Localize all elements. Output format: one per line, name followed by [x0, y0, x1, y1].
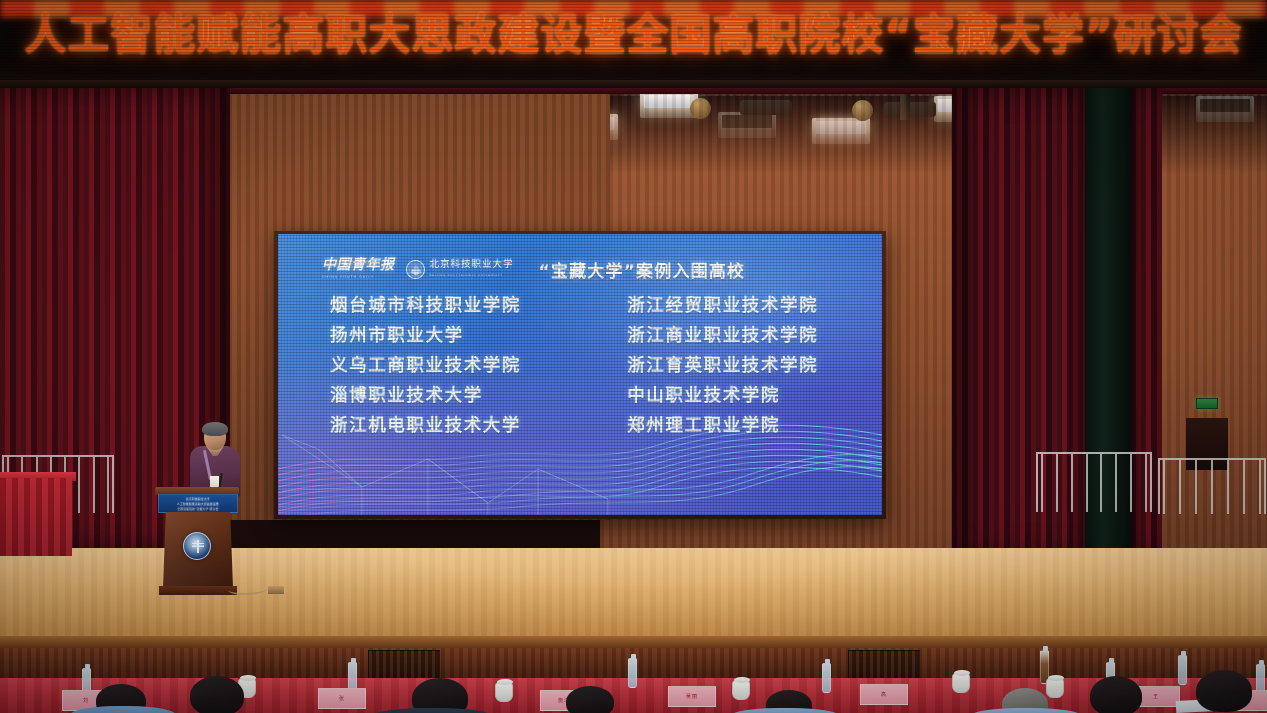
- lectern-banner-line2: 人工智能赋能高职大思政建设暨: [177, 502, 219, 506]
- stage-railing-far-right: [1158, 458, 1266, 514]
- tea-cup: [495, 682, 513, 702]
- tea-cup: [952, 673, 970, 693]
- lectern: 北京科技职业大学 人工智能赋能高职大思政建设暨 全国高职院校“宝藏大学”研讨会: [157, 487, 237, 597]
- skirted-table: [0, 478, 72, 556]
- tea-cup: [732, 680, 750, 700]
- led-screen: 中国青年报 CHINA YOUTH DAILY 北京科技职业大学 BEIJING…: [278, 234, 882, 515]
- audience-member-head: [1196, 670, 1252, 712]
- conference-hall-photo: 中国青年报 CHINA YOUTH DAILY 北京科技职业大学 BEIJING…: [0, 0, 1267, 713]
- university-lists: 烟台城市科技职业学院 扬州市职业大学 义乌工商职业技术学院 淄博职业技术大学 浙…: [330, 296, 858, 437]
- list-item: 郑州理工职业学院: [627, 416, 858, 438]
- lectern-banner: 北京科技职业大学 人工智能赋能高职大思政建设暨 全国高职院校“宝藏大学”研讨会: [158, 494, 238, 513]
- list-item: 中山职业技术学院: [627, 386, 858, 408]
- exit-sign-icon: [1196, 398, 1218, 409]
- name-placard: 张: [318, 688, 366, 709]
- led-banner: 人工智能赋能高职大思政建设暨全国高职院校“宝藏大学”研讨会: [0, 0, 1267, 86]
- list-item: 淄博职业技术大学: [330, 386, 593, 408]
- slide-header: 中国青年报 CHINA YOUTH DAILY 北京科技职业大学 BEIJING…: [322, 252, 862, 286]
- floor-cable-cover: [268, 586, 284, 594]
- lectern-banner-line3: 全国高职院校“宝藏大学”研讨会: [177, 507, 218, 511]
- audience-member-head: [1090, 676, 1142, 713]
- name-placard: 吴丽: [668, 686, 716, 707]
- bvp-logo-cn: 北京科技职业大学: [430, 261, 514, 271]
- cyd-logo-cn: 中国青年报: [322, 259, 395, 273]
- bvp-logo-en: BEIJING POLYTECHNIC UNIVERSITY: [430, 273, 514, 277]
- speaker-hair: [202, 422, 228, 436]
- university-column-right: 浙江经贸职业技术学院 浙江商业职业技术学院 浙江育英职业技术学院 中山职业技术学…: [627, 296, 858, 437]
- list-item: 义乌工商职业技术学院: [330, 356, 593, 378]
- list-item: 浙江机电职业技术大学: [330, 416, 593, 438]
- university-seal-icon: [406, 260, 425, 279]
- list-item: 扬州市职业大学: [330, 326, 593, 348]
- university-column-left: 烟台城市科技职业学院 扬州市职业大学 义乌工商职业技术学院 淄博职业技术大学 浙…: [330, 296, 593, 437]
- water-bottle: [628, 658, 637, 688]
- banner-bottom-edge: [0, 80, 1267, 88]
- university-crest-icon: [183, 532, 211, 560]
- china-youth-daily-logo: 中国青年报 CHINA YOUTH DAILY: [322, 259, 395, 279]
- audience-member-head: [190, 676, 244, 713]
- audience-member-head: [566, 686, 614, 713]
- banner-text: 人工智能赋能高职大思政建设暨全国高职院校“宝藏大学”研讨会: [0, 13, 1267, 57]
- beijing-polytechnic-logo: 北京科技职业大学 BEIJING POLYTECHNIC UNIVERSITY: [406, 260, 514, 279]
- slide-title: “宝藏大学”案例入围高校: [539, 257, 746, 282]
- cyd-logo-en: CHINA YOUTH DAILY: [322, 275, 395, 279]
- lectern-banner-line1: 北京科技职业大学: [186, 497, 210, 501]
- stage-vent-panel: [848, 650, 920, 680]
- tea-cup: [1046, 678, 1064, 698]
- stage-vent-panel: [368, 650, 440, 680]
- lectern-base: [159, 586, 237, 595]
- list-item: 浙江商业职业技术学院: [627, 326, 858, 348]
- speaker-person: [186, 424, 242, 494]
- name-placard: 高: [860, 684, 908, 705]
- list-item: 浙江育英职业技术学院: [627, 356, 858, 378]
- water-bottle: [1178, 655, 1187, 685]
- list-item: 烟台城市科技职业学院: [330, 296, 593, 318]
- stage-railing-right: [1036, 452, 1152, 512]
- list-item: 浙江经贸职业技术学院: [627, 296, 858, 318]
- water-bottle: [822, 663, 831, 693]
